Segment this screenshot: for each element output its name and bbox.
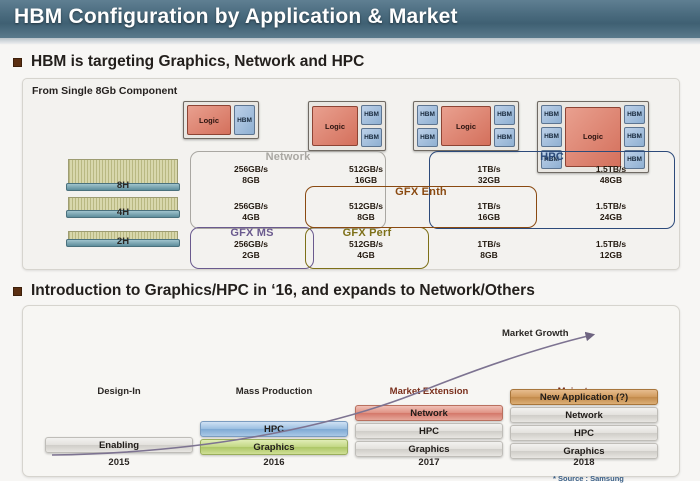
year-label-2016: 2016 xyxy=(200,457,348,468)
die-stack-4H: 4H xyxy=(68,197,176,218)
bandwidth-value: 1.5TB/s xyxy=(548,239,674,250)
hbm-column: HBMHBM xyxy=(494,105,515,147)
bandwidth-value: 1TB/s xyxy=(429,201,549,212)
spec-cell-2H-c4: 1.5TB/s12GB xyxy=(548,239,674,260)
timeline-stack-2016: HPCGraphics xyxy=(200,421,348,455)
section-heading-2-label: Introduction to Graphics/HPC in ‘16, and… xyxy=(31,282,535,300)
die-stack-8H: 8H xyxy=(68,159,176,191)
chip-config-1-hbm: LogicHBM xyxy=(183,101,259,139)
bandwidth-value: 512GB/s xyxy=(305,239,427,250)
timeline-stack-2017: NetworkHPCGraphics xyxy=(355,405,503,457)
interposer-base: 4H xyxy=(66,210,180,218)
capacity-value: 16GB xyxy=(429,212,549,223)
spec-cell-4H-c1: 256GB/s4GB xyxy=(190,201,312,222)
phase-label-2015: Design-In xyxy=(45,386,193,397)
roadmap-bar-graphics: Graphics xyxy=(355,441,503,457)
spec-cell-2H-c1: 256GB/s2GB xyxy=(190,239,312,260)
year-label-2018: 2018 xyxy=(510,457,658,468)
phase-label-2017: Market Extension xyxy=(355,386,503,397)
logic-die-block: Logic xyxy=(441,106,491,146)
chip-config-2-hbm: LogicHBMHBM xyxy=(308,101,386,151)
hbm-die-block: HBM xyxy=(541,127,562,146)
timeline-stack-2015: Enabling xyxy=(45,437,193,453)
market-box-label: GFX Enth xyxy=(306,186,536,198)
market-box-label: Network xyxy=(191,151,385,163)
bullet-square-icon xyxy=(13,58,22,67)
logic-die-block: Logic xyxy=(312,106,358,146)
bandwidth-value: 256GB/s xyxy=(190,201,312,212)
roadmap-bar-hpc: HPC xyxy=(200,421,348,437)
hbm-column: HBMHBM xyxy=(417,105,438,147)
spec-cell-8H-c2: 512GB/s16GB xyxy=(305,164,427,185)
roadmap-bar-graphics: Graphics xyxy=(200,439,348,455)
spec-cell-4H-c3: 1TB/s16GB xyxy=(429,201,549,222)
bullet-square-icon xyxy=(13,287,22,296)
capacity-value: 8GB xyxy=(190,175,312,186)
roadmap-bar-network: Network xyxy=(510,407,658,423)
section-heading-2: Introduction to Graphics/HPC in ‘16, and… xyxy=(13,282,535,300)
bandwidth-value: 1.5TB/s xyxy=(548,164,674,175)
hbm-die-block: HBM xyxy=(624,127,645,146)
spec-cell-4H-c4: 1.5TB/s24GB xyxy=(548,201,674,222)
slide-title-bar: HBM Configuration by Application & Marke… xyxy=(0,0,700,40)
capacity-value: 16GB xyxy=(305,175,427,186)
hbm-die-block: HBM xyxy=(417,128,438,148)
year-label-2015: 2015 xyxy=(45,457,193,468)
market-box-label: HPC xyxy=(430,151,674,163)
bandwidth-value: 256GB/s xyxy=(190,239,312,250)
panel-caption: From Single 8Gb Component xyxy=(32,85,177,97)
roadmap-bar-new-application: New Application (?) xyxy=(510,389,658,405)
market-box-label: GFX Perf xyxy=(306,227,428,239)
spec-cell-2H-c2: 512GB/s4GB xyxy=(305,239,427,260)
year-label-2017: 2017 xyxy=(355,457,503,468)
spec-cell-4H-c2: 512GB/s8GB xyxy=(305,201,427,222)
spec-cell-8H-c4: 1.5TB/s48GB xyxy=(548,164,674,185)
roadmap-panel: Design-InEnabling2015Mass ProductionHPCG… xyxy=(22,305,680,477)
roadmap-bar-hpc: HPC xyxy=(355,423,503,439)
section-heading-1-label: HBM is targeting Graphics, Network and H… xyxy=(31,53,364,71)
spec-cell-8H-c1: 256GB/s8GB xyxy=(190,164,312,185)
die-stack-label: 8H xyxy=(67,180,179,191)
roadmap-bar-enabling: Enabling xyxy=(45,437,193,453)
spec-cell-2H-c3: 1TB/s8GB xyxy=(429,239,549,260)
hbm-die-block: HBM xyxy=(361,105,382,125)
capacity-value: 4GB xyxy=(190,212,312,223)
interposer-base: 2H xyxy=(66,239,180,247)
capacity-value: 4GB xyxy=(305,250,427,261)
hbm-die-block: HBM xyxy=(361,128,382,148)
roadmap-bar-hpc: HPC xyxy=(510,425,658,441)
section-heading-1: HBM is targeting Graphics, Network and H… xyxy=(13,53,364,71)
logic-die-block: Logic xyxy=(187,105,231,135)
spec-cell-8H-c3: 1TB/s32GB xyxy=(429,164,549,185)
hbm-column: HBM xyxy=(234,105,255,135)
capacity-value: 8GB xyxy=(429,250,549,261)
hbm-die-block: HBM xyxy=(417,105,438,125)
bandwidth-value: 512GB/s xyxy=(305,201,427,212)
source-note: * Source : Samsung xyxy=(553,474,624,483)
die-stack-label: 2H xyxy=(67,236,179,247)
market-growth-label: Market Growth xyxy=(502,328,569,339)
chip-config-4-hbm: HBMHBMLogicHBMHBM xyxy=(413,101,519,151)
die-stack-label: 4H xyxy=(67,207,179,218)
hbm-die-block: HBM xyxy=(494,105,515,125)
hbm-die-block: HBM xyxy=(541,105,562,124)
market-box-label: GFX MS xyxy=(191,227,313,239)
hbm-column: HBMHBM xyxy=(361,105,382,147)
phase-label-2016: Mass Production xyxy=(200,386,348,397)
capacity-value: 48GB xyxy=(548,175,674,186)
capacity-value: 2GB xyxy=(190,250,312,261)
page-title: HBM Configuration by Application & Marke… xyxy=(14,5,458,29)
bandwidth-value: 256GB/s xyxy=(190,164,312,175)
bandwidth-value: 1TB/s xyxy=(429,164,549,175)
die-stack-2H: 2H xyxy=(68,231,176,247)
roadmap-bar-network: Network xyxy=(355,405,503,421)
configuration-panel: From Single 8Gb Component LogicHBMLogicH… xyxy=(22,78,680,270)
bandwidth-value: 1TB/s xyxy=(429,239,549,250)
timeline-stack-2018: New Application (?)NetworkHPCGraphics xyxy=(510,389,658,459)
interposer-base: 8H xyxy=(66,183,180,191)
capacity-value: 24GB xyxy=(548,212,674,223)
hbm-die-block: HBM xyxy=(494,128,515,148)
capacity-value: 8GB xyxy=(305,212,427,223)
bandwidth-value: 512GB/s xyxy=(305,164,427,175)
capacity-value: 32GB xyxy=(429,175,549,186)
hbm-die-block: HBM xyxy=(624,105,645,124)
capacity-value: 12GB xyxy=(548,250,674,261)
hbm-die-block: HBM xyxy=(234,105,255,135)
bandwidth-value: 1.5TB/s xyxy=(548,201,674,212)
